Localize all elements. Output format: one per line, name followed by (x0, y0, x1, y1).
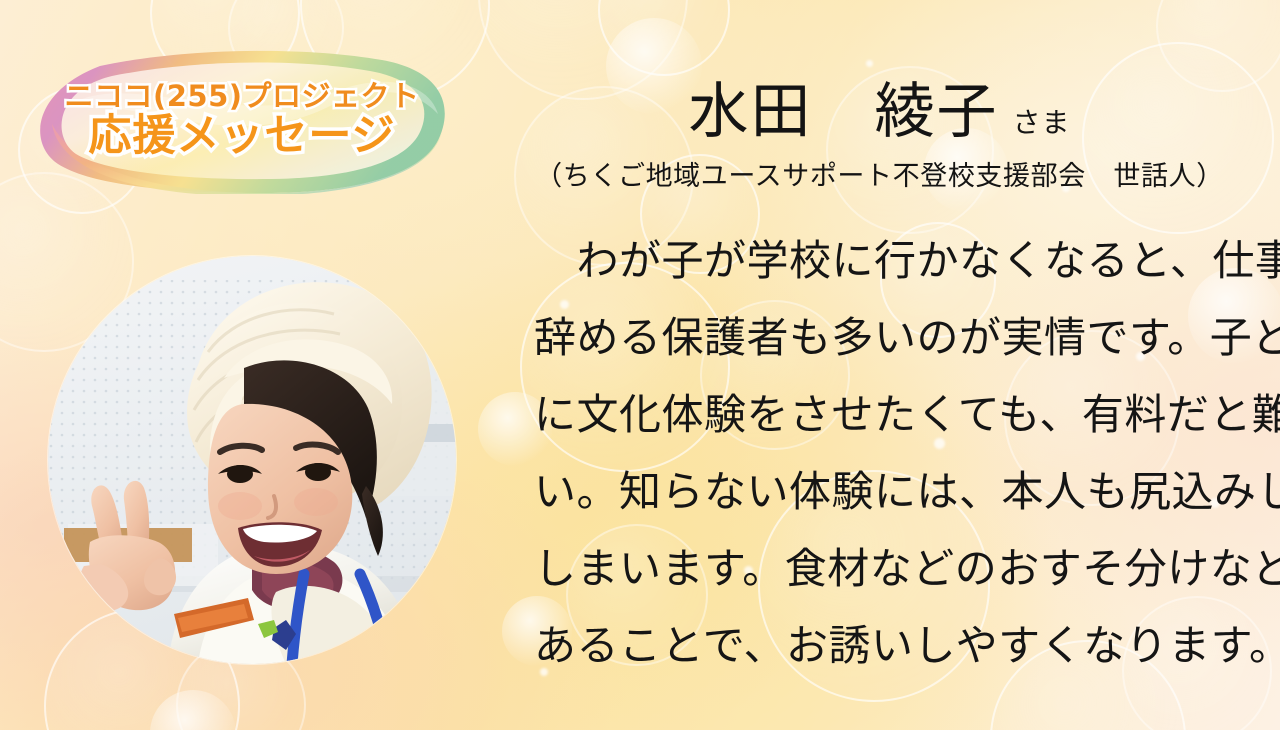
message-line: しまいます。食材などのおすそ分けなどが (492, 530, 1272, 607)
person-portrait-photo (48, 256, 456, 664)
portrait-illustration (48, 256, 456, 664)
message-line: に文化体験をさせたくても、有料だと難し (492, 376, 1272, 453)
person-affiliation: （ちくご地域ユースサポート不登校支援部会 世話人） (492, 154, 1267, 193)
message-body: わが子が学校に行かなくなると、仕事を 辞める保護者も多いのが実情です。子ども に… (492, 222, 1272, 684)
message-line: 辞める保護者も多いのが実情です。子ども (492, 299, 1272, 376)
badge-heading: 応援メッセージ (88, 114, 395, 159)
person-honorific: さま (1012, 109, 1070, 137)
person-name-block: 水田 綾子 さま （ちくご地域ユースサポート不登校支援部会 世話人） (492, 82, 1267, 193)
message-line: い。知らない体験には、本人も尻込みして (492, 453, 1272, 530)
message-line: わが子が学校に行かなくなると、仕事を (492, 222, 1272, 299)
person-name: 水田 綾子 (688, 82, 998, 142)
person-name-row: 水田 綾子 さま (492, 82, 1267, 142)
support-message-card: ニココ(255)プロジェクト 応援メッセージ (0, 0, 1280, 730)
support-message-badge: ニココ(255)プロジェクト 応援メッセージ (34, 46, 454, 194)
message-line: あることで、お誘いしやすくなります。 (492, 607, 1272, 684)
badge-project-title: ニココ(255)プロジェクト (64, 82, 419, 111)
